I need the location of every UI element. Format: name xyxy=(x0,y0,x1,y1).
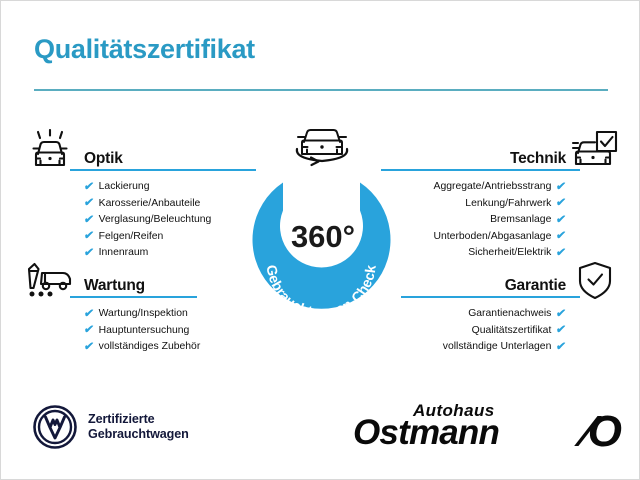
section-optik: Optik ✔Lackierung ✔Karosserie/Anbauteile… xyxy=(84,141,256,262)
list-item: ✔vollständiges Zubehör xyxy=(84,339,197,356)
dealer-name: Ostmann xyxy=(353,413,499,453)
check-icon: ✔ xyxy=(556,325,567,337)
checklist-wartung: ✔Wartung/Inspektion ✔Hauptuntersuchung ✔… xyxy=(84,306,197,356)
check-icon: ✔ xyxy=(83,215,94,227)
list-item-label: Garantienachweis xyxy=(468,306,551,323)
check-icon: ✔ xyxy=(83,231,94,243)
vw-certified-logo: Zertifizierte Gebrauchtwagen xyxy=(33,405,189,449)
list-item-label: vollständige Unterlagen xyxy=(443,339,552,356)
dealer-logo: Autohaus Ostmann ⁄O xyxy=(353,399,621,461)
check-icon: ✔ xyxy=(83,182,94,194)
check-icon: ✔ xyxy=(556,215,567,227)
vw-text-line1: Zertifizierte xyxy=(88,412,189,428)
list-item-label: vollständiges Zubehör xyxy=(99,339,201,356)
section-header: Optik xyxy=(84,141,256,171)
car-service-icon xyxy=(25,260,73,307)
section-divider xyxy=(70,169,256,171)
vw-logo-text: Zertifizierte Gebrauchtwagen xyxy=(88,412,189,443)
list-item: Sicherheit/Elektrik✔ xyxy=(381,245,566,262)
list-item-label: Felgen/Reifen xyxy=(99,229,164,246)
list-item: ✔Hauptuntersuchung xyxy=(84,323,197,340)
dealer-monogram: ⁄O xyxy=(583,407,619,457)
section-divider xyxy=(381,169,580,171)
check-icon: ✔ xyxy=(556,198,567,210)
check-icon: ✔ xyxy=(556,182,567,194)
list-item-label: Innenraum xyxy=(99,245,149,262)
list-item-label: Hauptuntersuchung xyxy=(99,323,190,340)
list-item-label: Unterboden/Abgasanlage xyxy=(434,229,552,246)
section-garantie: Garantie Garantienachweis✔ Qualitätszert… xyxy=(401,268,566,356)
check-icon: ✔ xyxy=(556,342,567,354)
list-item: Unterboden/Abgasanlage✔ xyxy=(381,229,566,246)
check-icon: ✔ xyxy=(556,309,567,321)
list-item-label: Qualitätszertifikat xyxy=(472,323,552,340)
checklist-technik: Aggregate/Antriebsstrang✔ Lenkung/Fahrwe… xyxy=(381,179,566,262)
check-icon: ✔ xyxy=(83,309,94,321)
section-header: Technik xyxy=(381,141,566,171)
list-item: Garantienachweis✔ xyxy=(401,306,566,323)
car-shine-icon xyxy=(27,129,73,176)
section-title: Wartung xyxy=(84,277,145,295)
badge-value: 360° xyxy=(244,159,399,314)
list-item: ✔Lackierung xyxy=(84,179,256,196)
checklist-optik: ✔Lackierung ✔Karosserie/Anbauteile ✔Verg… xyxy=(84,179,256,262)
check-icon: ✔ xyxy=(83,248,94,260)
check-icon: ✔ xyxy=(83,198,94,210)
list-item: Qualitätszertifikat✔ xyxy=(401,323,566,340)
title-divider xyxy=(34,89,608,91)
list-item-label: Lackierung xyxy=(99,179,150,196)
section-header: Garantie xyxy=(401,268,566,298)
check-icon: ✔ xyxy=(556,248,567,260)
section-divider xyxy=(401,296,580,298)
section-wartung: Wartung ✔Wartung/Inspektion ✔Hauptunters… xyxy=(84,268,197,356)
section-title: Garantie xyxy=(505,277,566,295)
section-header: Wartung xyxy=(84,268,197,298)
list-item-label: Bremsanlage xyxy=(490,212,551,229)
list-item: ✔Verglasung/Beleuchtung xyxy=(84,212,256,229)
list-item: Lenkung/Fahrwerk✔ xyxy=(381,196,566,213)
section-technik: Technik Aggregate/Antriebsstrang✔ Lenkun… xyxy=(381,141,566,262)
vw-logo-icon xyxy=(33,405,77,449)
list-item: ✔Wartung/Inspektion xyxy=(84,306,197,323)
list-item-label: Sicherheit/Elektrik xyxy=(468,245,551,262)
list-item-label: Wartung/Inspektion xyxy=(99,306,188,323)
list-item: ✔Karosserie/Anbauteile xyxy=(84,196,256,213)
section-divider xyxy=(70,296,197,298)
certificate-page: Qualitätszertifikat xyxy=(1,1,639,479)
check-icon: ✔ xyxy=(556,231,567,243)
car-front-rotate-icon xyxy=(283,121,361,177)
360-check-badge: Gebrauchtwagen-Check 360° xyxy=(244,159,399,314)
list-item-label: Verglasung/Beleuchtung xyxy=(99,212,212,229)
checklist-garantie: Garantienachweis✔ Qualitätszertifikat✔ v… xyxy=(401,306,566,356)
list-item-label: Lenkung/Fahrwerk xyxy=(465,196,551,213)
list-item-label: Aggregate/Antriebsstrang xyxy=(434,179,552,196)
list-item: vollständige Unterlagen✔ xyxy=(401,339,566,356)
list-item: Aggregate/Antriebsstrang✔ xyxy=(381,179,566,196)
list-item-label: Karosserie/Anbauteile xyxy=(99,196,201,213)
vw-text-line2: Gebrauchtwagen xyxy=(88,427,189,443)
list-item: ✔Felgen/Reifen xyxy=(84,229,256,246)
shield-check-icon xyxy=(577,260,613,307)
check-icon: ✔ xyxy=(83,325,94,337)
list-item: ✔Innenraum xyxy=(84,245,256,262)
page-title: Qualitätszertifikat xyxy=(34,34,255,65)
check-icon: ✔ xyxy=(83,342,94,354)
section-title: Technik xyxy=(510,150,566,168)
list-item: Bremsanlage✔ xyxy=(381,212,566,229)
section-title: Optik xyxy=(84,150,123,168)
